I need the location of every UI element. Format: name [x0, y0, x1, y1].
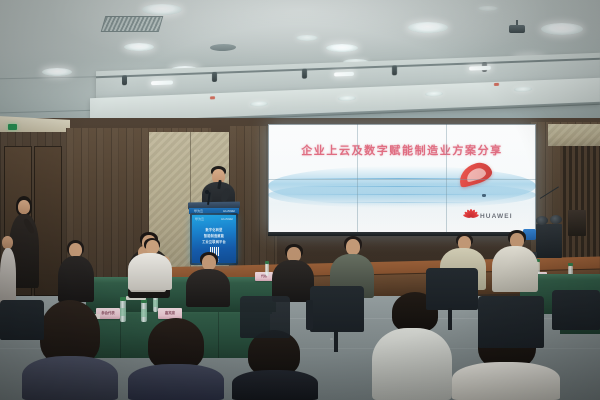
attendee-torso	[492, 246, 538, 292]
speaker-cabinet	[536, 224, 562, 258]
speaker-driver-icon	[550, 215, 562, 224]
attendee-torso	[372, 328, 452, 400]
track-spot-head	[212, 72, 217, 82]
lectern-screen-brand: 华为云	[195, 217, 204, 221]
attendee-torso	[128, 253, 172, 290]
slide-title: 企业上云及数字赋能制造业方案分享	[268, 142, 536, 158]
name-card-text: 代表	[255, 274, 273, 278]
conference-chair[interactable]	[552, 290, 600, 330]
speaker-driver-icon	[536, 216, 548, 225]
attendee-foreground-center	[232, 330, 318, 400]
soffit-downlight	[338, 96, 356, 102]
wall-beige-panel-right	[548, 124, 600, 146]
attendee-head	[346, 239, 360, 255]
conference-chair[interactable]	[478, 296, 544, 348]
chair-post	[334, 330, 338, 352]
huawei-logo: HUAWEI	[464, 212, 513, 221]
name-card-text: 嘉宾席	[158, 310, 182, 315]
conference-chair[interactable]	[0, 300, 44, 340]
conference-chair[interactable]	[310, 286, 364, 332]
water-bottle	[265, 263, 269, 276]
ceiling-downlight	[541, 23, 583, 35]
ceiling-projector	[509, 25, 525, 33]
attendee-white-shirt	[126, 238, 174, 290]
attendee-torso	[186, 269, 230, 307]
chair-arm	[306, 300, 313, 330]
bottle-label	[141, 309, 147, 317]
ceiling-downlight	[296, 35, 318, 41]
attendee-torso	[232, 370, 318, 400]
attendee-torso	[22, 356, 118, 400]
ceiling-downlight	[478, 6, 498, 11]
ceiling-downlight	[42, 68, 72, 76]
attendee-head	[146, 240, 159, 254]
attendee-torso	[58, 256, 94, 302]
conference-chair[interactable]	[240, 296, 290, 338]
ceiling-downlight	[408, 22, 448, 33]
track-light	[151, 80, 173, 85]
attendee-torso	[128, 364, 224, 400]
attendee-row-back-1	[58, 240, 94, 302]
led-video-wall: 企业上云及数字赋能制造业方案分享 HUAWEI	[268, 124, 536, 234]
attendee-torso	[0, 248, 16, 306]
track-spot-head	[122, 75, 127, 85]
ceiling-downlight	[124, 43, 154, 51]
lectern-text-line-1: 数字化转型	[192, 227, 236, 232]
ceiling-downlight	[326, 44, 358, 52]
conference-hall-photo: 企业上云及数字赋能制造业方案分享 HUAWEI	[0, 0, 600, 400]
bottle-label	[120, 308, 126, 316]
lectern-text-line-2: 智能制造赋能	[192, 233, 236, 238]
ceiling-downlight	[142, 4, 182, 15]
attendee-row-right-1	[492, 230, 538, 292]
soffit-downlight	[250, 101, 268, 107]
attendee-foreground-left-2	[128, 318, 224, 400]
attendee-hair	[148, 318, 204, 370]
bottle-cap	[265, 261, 269, 264]
attendee-head	[18, 200, 30, 214]
soffit-downlight	[425, 91, 443, 97]
floor-detail	[330, 338, 333, 340]
audience-table-top	[84, 277, 278, 283]
lectern-screen-brand-right: HUAWEI	[221, 217, 233, 221]
attendee-hair	[40, 300, 100, 364]
track-spot-head	[302, 69, 307, 79]
emergency-light	[210, 96, 215, 99]
bottle-cap	[568, 263, 573, 266]
huawei-flower-icon	[464, 212, 477, 221]
attendee-head	[69, 243, 82, 257]
conference-chair[interactable]	[426, 268, 478, 310]
attendee-head	[202, 255, 216, 270]
attendee-row-mid-1	[186, 252, 230, 307]
soffit-downlight	[514, 86, 532, 92]
track-spot-head	[392, 65, 397, 75]
lectern-text-line-3: 工业互联网平台	[192, 239, 236, 244]
microphone-head	[205, 190, 209, 194]
paraglider-pilot	[482, 194, 486, 197]
attendee-standing-far-left	[0, 236, 16, 306]
track-light	[469, 66, 491, 71]
equipment-case	[568, 210, 586, 236]
name-card: 代表	[255, 272, 273, 281]
emergency-light	[494, 83, 499, 86]
exit-sign-icon	[8, 124, 17, 130]
attendee-torso	[452, 362, 560, 400]
track-light	[334, 72, 354, 77]
video-wall-seam	[268, 179, 536, 180]
bottle-label	[153, 300, 158, 307]
ceiling-air-vent	[101, 16, 164, 32]
slide-wave-line	[316, 202, 486, 203]
attendee-row-mid-2	[272, 244, 314, 302]
chair-post	[448, 308, 452, 330]
huawei-wordmark: HUAWEI	[480, 213, 513, 220]
